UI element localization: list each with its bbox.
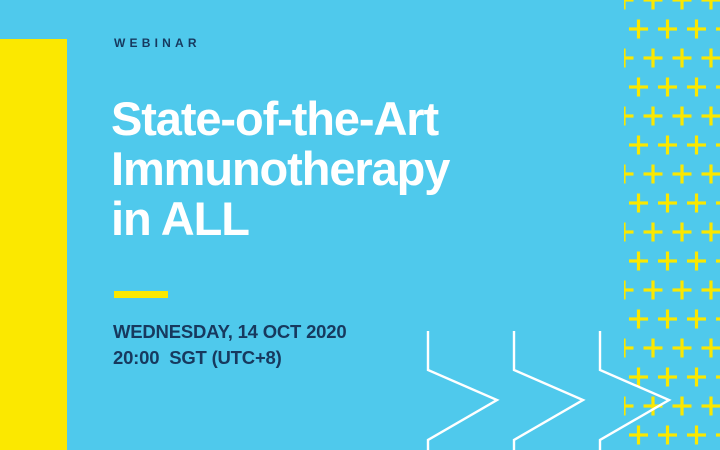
event-time: 20:00 SGT (UTC+8) bbox=[113, 345, 346, 371]
yellow-divider-rule bbox=[114, 291, 168, 298]
left-yellow-band bbox=[0, 39, 67, 450]
eyebrow-label: WEBINAR bbox=[114, 36, 201, 50]
title-line-2: Immunotherapy bbox=[111, 144, 631, 194]
chevron-arrows-decoration bbox=[400, 300, 720, 450]
page-title: State-of-the-Art Immunotherapy in ALL bbox=[111, 94, 631, 244]
event-datetime: WEDNESDAY, 14 OCT 2020 20:00 SGT (UTC+8) bbox=[113, 319, 346, 371]
title-line-1: State-of-the-Art bbox=[111, 94, 631, 144]
event-date: WEDNESDAY, 14 OCT 2020 bbox=[113, 319, 346, 345]
webinar-poster: WEBINAR State-of-the-Art Immunotherapy i… bbox=[0, 0, 720, 450]
title-line-3: in ALL bbox=[111, 194, 631, 244]
